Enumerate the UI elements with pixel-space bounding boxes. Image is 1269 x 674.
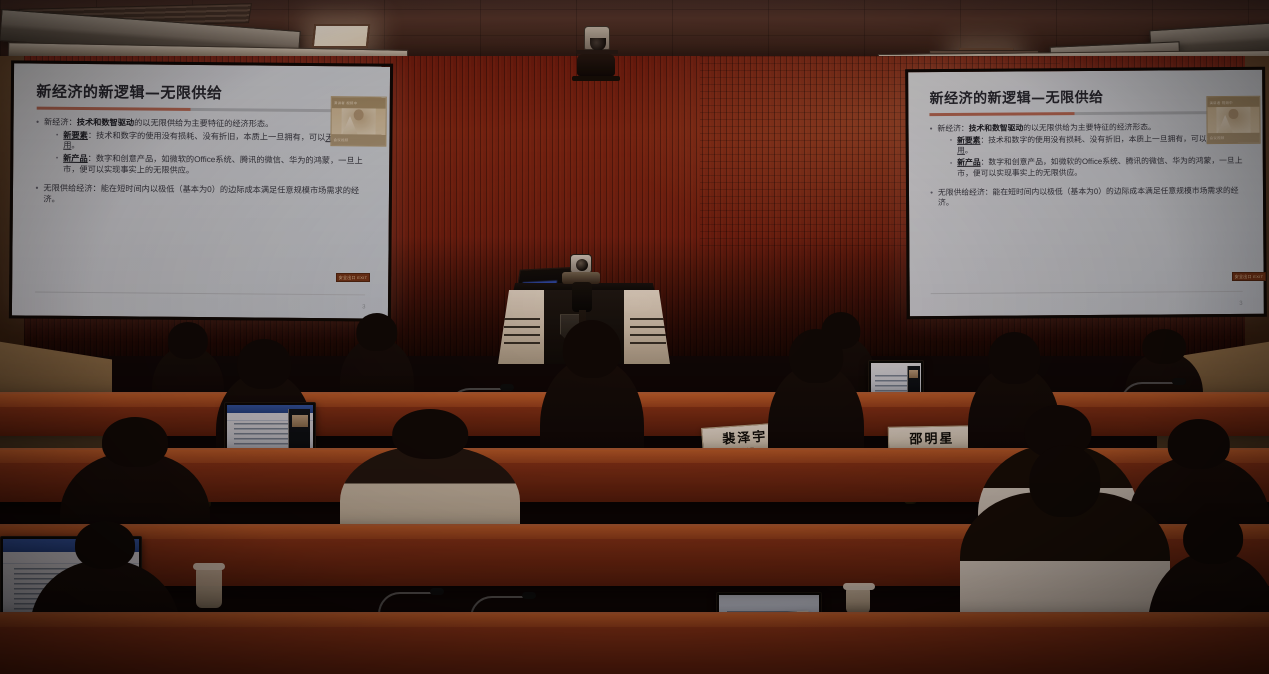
bullet-marker: • <box>950 136 952 156</box>
bullet-marker: • <box>950 158 952 178</box>
bullet-text: 新产品：数字和创意产品，如微软的Office系统、腾讯的微信、华为的鸿蒙，一旦上… <box>957 156 1245 178</box>
slide-bullet-3: • 新产品：数字和创意产品，如微软的Office系统、腾讯的微信、华为的鸿蒙，一… <box>950 156 1245 178</box>
attendee-head <box>75 521 135 569</box>
slide-body: • 新经济：技术和数智驱动的以无限供给为主要特征的经济形态。 • 新要素：技术和… <box>35 117 370 208</box>
projection-screen-left: 新经济的新逻辑—无限供给 • 新经济：技术和数智驱动的以无限供给为主要特征的经济… <box>9 60 393 321</box>
exit-sign: 安全出口 EXIT <box>1232 272 1266 281</box>
slide-page-number: 3 <box>362 305 365 311</box>
attendee-head <box>563 320 621 378</box>
bullet-text: 新经济：技术和数智驱动的以无限供给为主要特征的经济形态。 <box>44 118 273 131</box>
slide-bullet-1: • 新经济：技术和数智驱动的以无限供给为主要特征的经济形态。 <box>930 122 1245 134</box>
lectern-vent-slots <box>504 318 541 345</box>
video-conference-thumbnail: 演讲者 视频中 会议视频 <box>1206 96 1260 144</box>
slide-title: 新经济的新逻辑—无限供给 <box>929 86 1244 108</box>
projection-screen-right: 新经济的新逻辑—无限供给 • 新经济：技术和数智驱动的以无限供给为主要特征的经济… <box>905 67 1267 320</box>
remote-participant-avatar <box>1217 107 1250 133</box>
placard-name: 邵明星 <box>909 428 954 448</box>
attendee-head <box>789 329 843 383</box>
slide-bullet-3: • 新产品：数字和创意产品，如微软的Office系统、腾讯的微信、华为的鸿蒙，一… <box>56 154 371 178</box>
coffee-cup <box>846 588 870 614</box>
attendee-head <box>237 339 291 389</box>
slide-page-number: 3 <box>1239 301 1242 307</box>
lectern-vent-slots <box>630 318 667 345</box>
slide-bullet-2: • 新要素：技术和数字的使用没有损耗、没有折旧，本质上一旦拥有，可以无限次使用。 <box>56 130 371 154</box>
slide-bullet-2: • 新要素：技术和数字的使用没有损耗、没有折旧，本质上一旦拥有，可以无限次使用。 <box>950 134 1245 156</box>
bullet-text: 新产品：数字和创意产品，如微软的Office系统、腾讯的微信、华为的鸿蒙，一旦上… <box>63 154 371 178</box>
video-conference-thumbnail: 演讲者 视频中 会议视频 <box>330 96 386 146</box>
slide-bullet-4: • 无限供给经济：能在短时间内以极低（基本为0）的边际成本满足任意规模市场需求的… <box>930 186 1245 209</box>
vc-bottom-label: 会议视频 <box>331 135 385 146</box>
attendee-head <box>392 409 468 460</box>
bullet-marker: • <box>36 117 39 128</box>
wall-speaker-icon <box>577 54 615 76</box>
bullet-text: 无限供给经济：能在短时间内以极低（基本为0）的边际成本满足任意规模市场需求的经济… <box>938 186 1245 209</box>
bullet-marker: • <box>56 130 58 151</box>
placard-name: 裴泽宇 <box>722 425 768 447</box>
slide-title: 新经济的新逻辑—无限供给 <box>36 80 371 104</box>
vc-top-label: 演讲者 视频中 <box>332 97 386 108</box>
bullet-text: 新要素：技术和数字的使用没有损耗、没有折旧，本质上一旦拥有，可以无限次使用。 <box>957 134 1245 156</box>
slide-body: • 新经济：技术和数智驱动的以无限供给为主要特征的经济形态。 • 新要素：技术和… <box>930 122 1246 209</box>
slide-footer-rule <box>35 292 366 296</box>
vc-top-label: 演讲者 视频中 <box>1207 97 1259 107</box>
coffee-cup <box>196 568 222 608</box>
bullet-text: 新经济：技术和数智驱动的以无限供给为主要特征的经济形态。 <box>937 122 1155 134</box>
video-camera-icon <box>570 254 592 274</box>
attendee-head <box>356 313 397 351</box>
slide-bullet-1: • 新经济：技术和数智驱动的以无限供给为主要特征的经济形态。 <box>36 117 371 131</box>
attendee-head <box>988 332 1040 384</box>
attendee-head <box>1183 511 1243 565</box>
slide-footer-rule <box>931 291 1243 294</box>
slide-title-rule <box>930 111 1245 116</box>
bullet-text: 无限供给经济：能在短时间内以极低（基本为0）的边际成本满足任意规模市场需求的经济… <box>43 184 370 209</box>
remote-participant-avatar <box>341 108 376 135</box>
lectern-panel-right <box>624 290 670 364</box>
slide-title-rule <box>36 106 371 112</box>
bullet-marker: • <box>930 124 933 134</box>
bullet-marker: • <box>930 188 933 209</box>
vc-bottom-label: 会议视频 <box>1208 133 1260 143</box>
bullet-marker: • <box>35 184 38 206</box>
desk-surface <box>0 614 1269 627</box>
attendee-head <box>1142 329 1186 364</box>
attendee-head <box>102 417 168 467</box>
attendee-head <box>1029 445 1100 518</box>
ceiling-dome-camera-icon <box>584 26 610 50</box>
exit-sign: 安全出口 EXIT <box>336 273 370 282</box>
bullet-marker: • <box>56 154 58 175</box>
lectern-panel-left <box>498 290 544 364</box>
ceiling-light-icon <box>312 24 371 48</box>
attendee-head <box>168 322 208 358</box>
attendee-head <box>1168 419 1230 469</box>
desk-row-4 <box>0 612 1269 674</box>
bullet-text: 新要素：技术和数字的使用没有损耗、没有折旧，本质上一旦拥有，可以无限次使用。 <box>63 131 371 155</box>
lecture-hall-photo: 新经济的新逻辑—无限供给 • 新经济：技术和数智驱动的以无限供给为主要特征的经济… <box>0 0 1269 674</box>
camera-rig <box>572 282 592 312</box>
slide-bullet-4: • 无限供给经济：能在短时间内以极低（基本为0）的边际成本满足任意规模市场需求的… <box>35 184 370 209</box>
